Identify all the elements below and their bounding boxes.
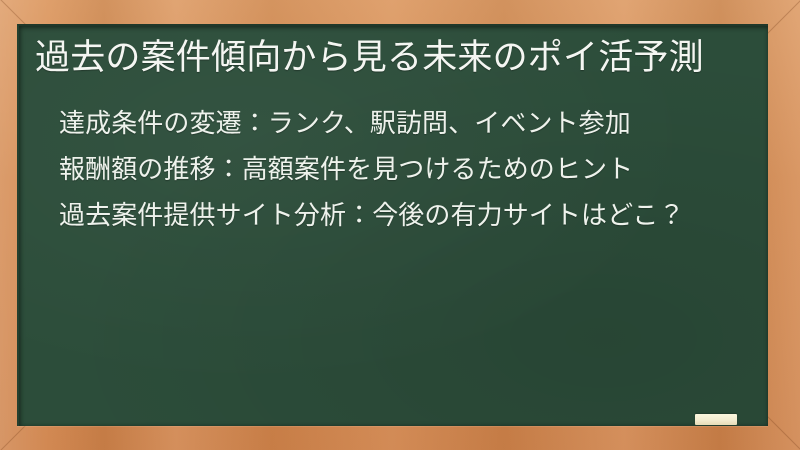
frame-corner-top-right	[766, 0, 800, 34]
bullet-item-1: 達成条件の変遷：ランク、駅訪問、イベント参加	[59, 105, 746, 141]
bullet-list: 達成条件の変遷：ランク、駅訪問、イベント参加 報酬額の推移：高額案件を見つけるた…	[35, 105, 746, 233]
chalkboard-slide: 過去の案件傾向から見る未来のポイ活予測 達成条件の変遷：ランク、駅訪問、イベント…	[0, 0, 800, 450]
bullet-item-2: 報酬額の推移：高額案件を見つけるためのヒント	[59, 151, 746, 187]
bullet-item-3: 過去案件提供サイト分析：今後の有力サイトはどこ？	[59, 197, 746, 233]
board-content: 過去の案件傾向から見る未来のポイ活予測 達成条件の変遷：ランク、駅訪問、イベント…	[19, 26, 768, 426]
chalkboard-surface: 過去の案件傾向から見る未来のポイ活予測 達成条件の変遷：ランク、駅訪問、イベント…	[17, 24, 768, 426]
slide-title: 過去の案件傾向から見る未来のポイ活予測	[35, 35, 746, 81]
frame-corner-bottom-right	[766, 416, 800, 450]
chalk-stick-icon	[695, 414, 737, 425]
